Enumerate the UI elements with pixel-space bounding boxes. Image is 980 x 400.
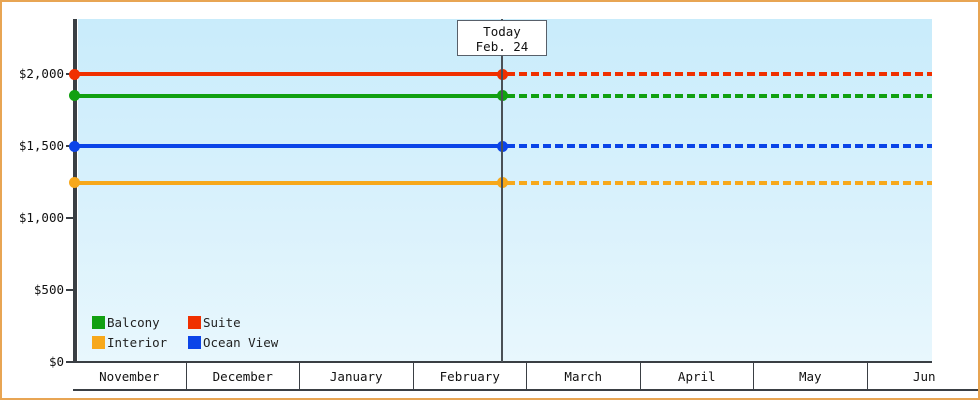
y-tick-label: $2,000 bbox=[2, 68, 64, 80]
month-cell-november[interactable]: November bbox=[73, 363, 187, 389]
legend-label: Suite bbox=[203, 316, 241, 329]
legend-swatch-icon bbox=[92, 316, 105, 329]
legend-label: Interior bbox=[107, 336, 167, 349]
legend-item-suite[interactable]: Suite bbox=[188, 312, 241, 332]
tooltip-line-2: Feb. 24 bbox=[458, 39, 546, 54]
month-cell-april[interactable]: April bbox=[641, 363, 755, 389]
series-line-dashed-suite bbox=[507, 72, 932, 76]
legend-row: InteriorOcean View bbox=[92, 332, 302, 352]
legend-item-interior[interactable]: Interior bbox=[92, 332, 188, 352]
y-tick-label: $0 bbox=[2, 356, 64, 368]
y-tick-label: $1,000 bbox=[2, 212, 64, 224]
series-line-solid-interior bbox=[74, 181, 503, 185]
tooltip-line-1: Today bbox=[458, 24, 546, 39]
legend-swatch-icon bbox=[188, 316, 201, 329]
series-line-dashed-balcony bbox=[507, 94, 932, 98]
month-cell-jun[interactable]: Jun bbox=[868, 363, 980, 389]
legend-row: BalconySuite bbox=[92, 312, 302, 332]
month-cell-march[interactable]: March bbox=[527, 363, 641, 389]
legend-swatch-icon bbox=[188, 336, 201, 349]
legend-label: Ocean View bbox=[203, 336, 278, 349]
series-line-dashed-interior bbox=[507, 181, 932, 185]
legend-item-ocean-view[interactable]: Ocean View bbox=[188, 332, 278, 352]
series-line-dashed-ocean-view bbox=[507, 144, 932, 148]
series-start-marker-suite[interactable] bbox=[69, 69, 80, 80]
today-vertical-line bbox=[501, 19, 503, 362]
y-tick-label: $1,500 bbox=[2, 140, 64, 152]
legend-label: Balcony bbox=[107, 316, 160, 329]
today-tooltip: Today Feb. 24 bbox=[457, 20, 547, 56]
series-line-solid-suite bbox=[74, 72, 503, 76]
legend-item-balcony[interactable]: Balcony bbox=[92, 312, 188, 332]
month-cell-january[interactable]: January bbox=[300, 363, 414, 389]
series-start-marker-ocean-view[interactable] bbox=[69, 141, 80, 152]
y-tick-mark bbox=[66, 289, 74, 291]
cruise-price-chart: $0$500$1,000$1,500$2,000 Today Feb. 24 B… bbox=[0, 0, 980, 400]
month-cell-february[interactable]: February bbox=[414, 363, 528, 389]
month-cell-december[interactable]: December bbox=[187, 363, 301, 389]
month-cell-may[interactable]: May bbox=[754, 363, 868, 389]
y-tick-label: $500 bbox=[2, 284, 64, 296]
y-tick-mark bbox=[66, 217, 74, 219]
series-line-solid-ocean-view bbox=[74, 144, 503, 148]
legend-swatch-icon bbox=[92, 336, 105, 349]
chart-legend: BalconySuiteInteriorOcean View bbox=[92, 312, 302, 352]
series-line-solid-balcony bbox=[74, 94, 503, 98]
month-axis-band: NovemberDecemberJanuaryFebruaryMarchApri… bbox=[73, 363, 980, 391]
